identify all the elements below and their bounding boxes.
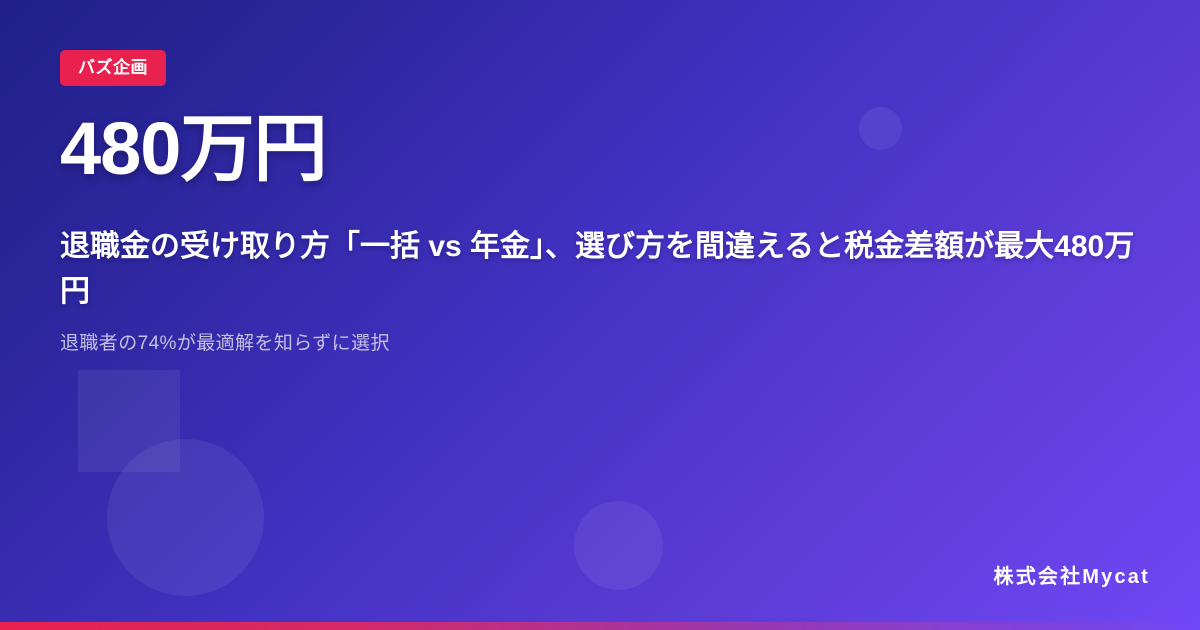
article-title: 退職金の受け取り方「一括 vs 年金」、選び方を間違えると税金差額が最大480万… [60,224,1150,314]
company-brand-name: 株式会社Mycat [994,567,1151,587]
category-badge: バズ企画 [60,50,166,86]
accent-bottom-bar [0,622,1200,630]
banner-content: バズ企画 480万円 退職金の受け取り方「一括 vs 年金」、選び方を間違えると… [60,0,1150,630]
hero-headline-amount: 480万円 [60,112,326,186]
article-subtext: 退職者の74%が最適解を知らずに選択 [60,331,390,358]
promo-banner: バズ企画 480万円 退職金の受け取り方「一括 vs 年金」、選び方を間違えると… [0,0,1200,630]
